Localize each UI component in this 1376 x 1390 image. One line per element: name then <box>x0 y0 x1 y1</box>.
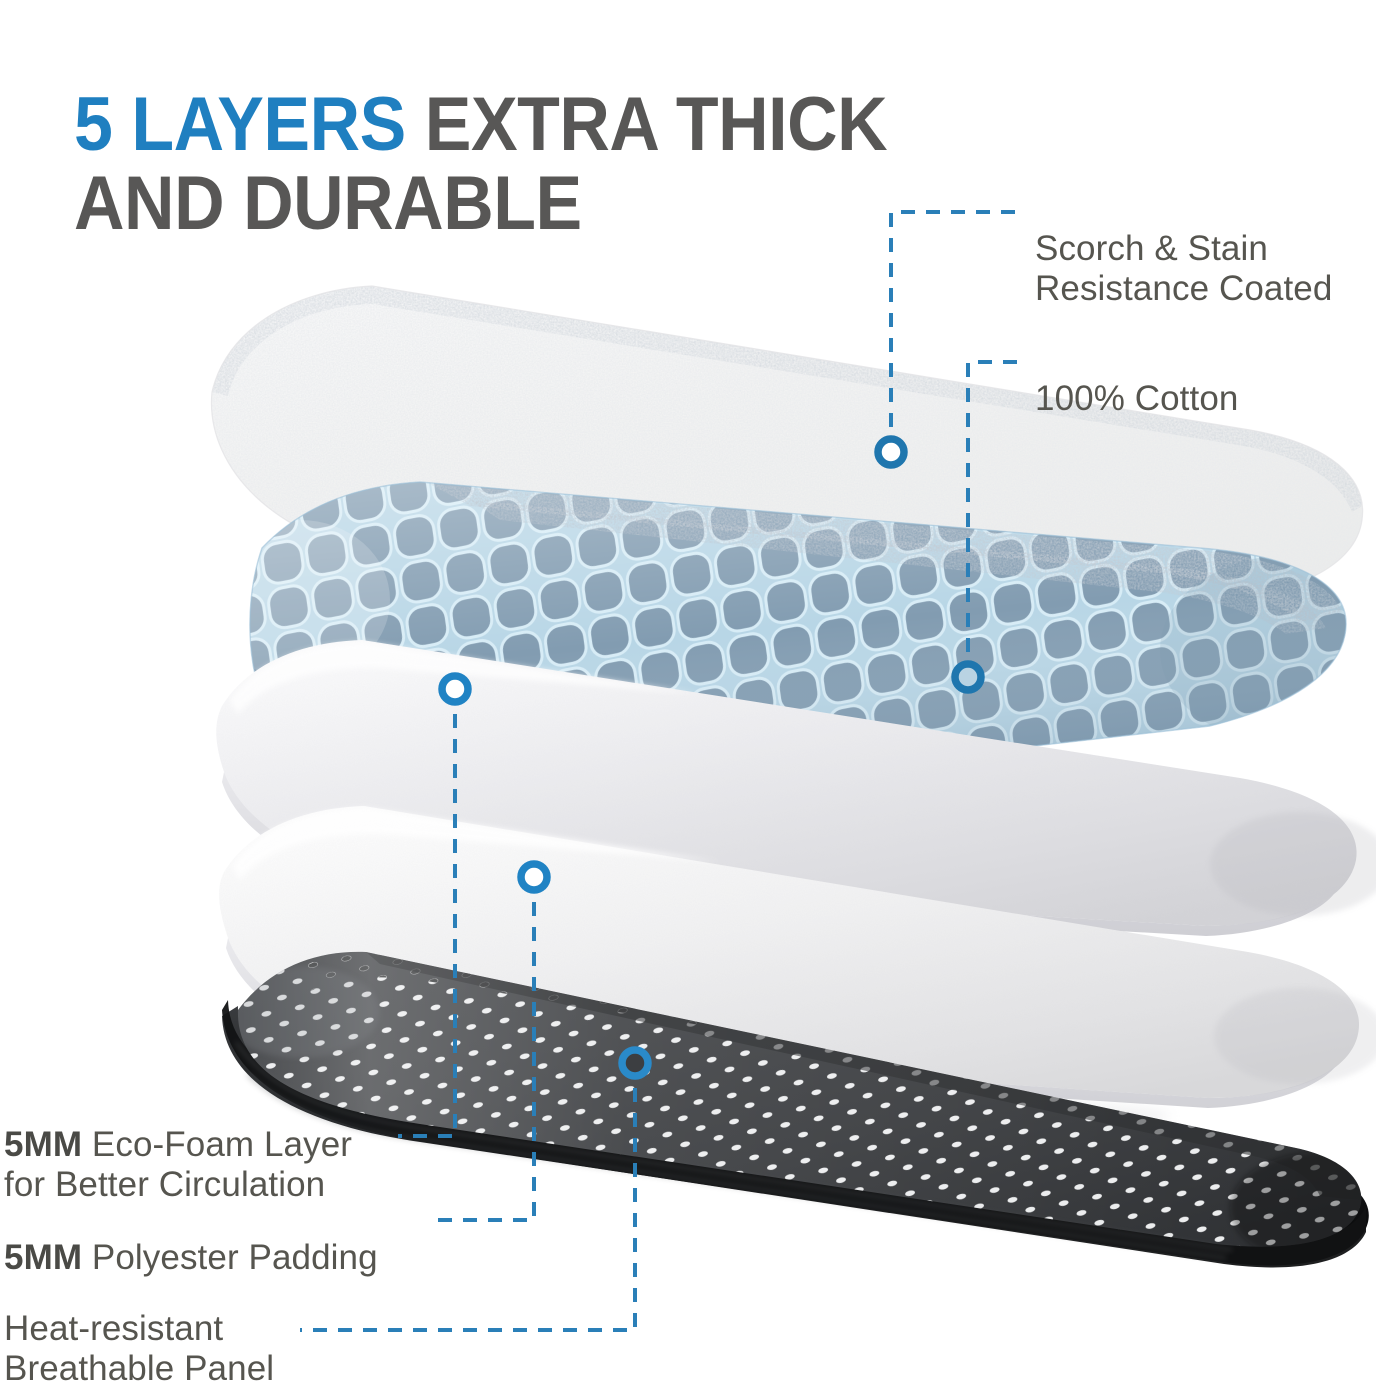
callout-text-heat-resistant-panel: Heat-resistant Breathable Panel <box>4 1309 274 1389</box>
callout-prefix-eco-foam: 5MM <box>4 1125 92 1164</box>
callout-text-scorch-stain: Scorch & Stain Resistance Coated <box>1035 229 1332 309</box>
infographic-canvas: 5 LAYERS EXTRA THICK AND DURABLE <box>0 0 1376 1358</box>
callout-label-polyester-padding: 5MM Polyester Padding <box>4 1197 444 1278</box>
callout-label-eco-foam: 5MM Eco-Foam Layer for Better Circulatio… <box>4 1084 414 1206</box>
callout-text-cotton: 100% Cotton <box>1035 379 1238 418</box>
callout-label-scorch-stain: Scorch & Stain Resistance Coated <box>1035 188 1376 310</box>
callout-label-cotton: 100% Cotton <box>1035 338 1365 419</box>
callout-label-heat-resistant-panel: Heat-resistant Breathable Panel <box>4 1268 334 1390</box>
